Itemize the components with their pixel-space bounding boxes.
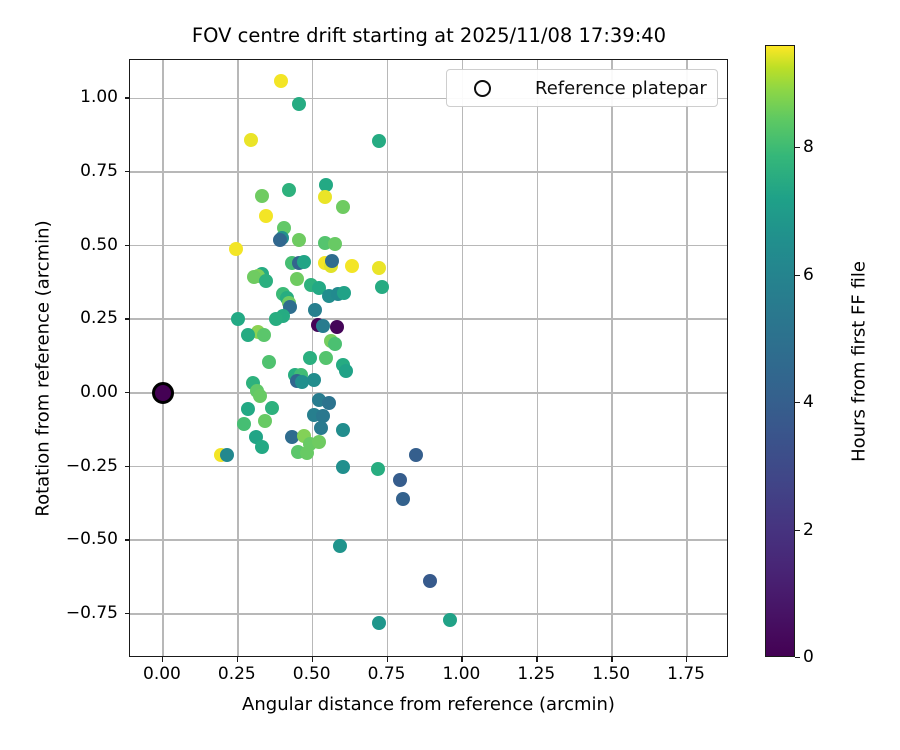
reference-platepar-marker-icon bbox=[474, 80, 491, 97]
y-tick-label: 0.00 bbox=[80, 382, 118, 402]
figure-canvas: FOV centre drift starting at 2025/11/08 … bbox=[0, 0, 900, 750]
x-tick-label: 0.50 bbox=[293, 664, 331, 684]
scatter-point bbox=[274, 74, 288, 88]
scatter-point bbox=[308, 303, 322, 317]
scatter-point bbox=[292, 233, 306, 247]
gridline-horizontal bbox=[130, 171, 727, 173]
gridline-horizontal bbox=[130, 613, 727, 615]
colorbar-tick-mark bbox=[795, 402, 800, 403]
scatter-point bbox=[312, 435, 326, 449]
x-tick-label: 0.00 bbox=[143, 664, 181, 684]
colorbar-label: Hours from first FF file bbox=[849, 56, 870, 668]
scatter-point bbox=[336, 460, 350, 474]
scatter-point bbox=[336, 200, 350, 214]
scatter-point bbox=[345, 259, 359, 273]
y-tick-mark bbox=[125, 539, 130, 540]
colorbar-tick-label: 2 bbox=[803, 520, 814, 540]
gridline-vertical bbox=[686, 60, 688, 656]
plot-area bbox=[130, 60, 727, 656]
gridline-vertical bbox=[537, 60, 539, 656]
scatter-point bbox=[330, 320, 344, 334]
x-tick-mark bbox=[162, 657, 163, 662]
y-tick-mark bbox=[125, 97, 130, 98]
scatter-point bbox=[255, 189, 269, 203]
colorbar-tick-label: 0 bbox=[803, 647, 814, 667]
colorbar-tick-label: 6 bbox=[803, 265, 814, 285]
scatter-point bbox=[244, 133, 258, 147]
scatter-point bbox=[316, 319, 330, 333]
scatter-point bbox=[292, 97, 306, 111]
scatter-point bbox=[372, 134, 386, 148]
legend: Reference platepar bbox=[446, 69, 718, 107]
scatter-point bbox=[423, 574, 437, 588]
scatter-point bbox=[396, 492, 410, 506]
colorbar-tick-mark bbox=[795, 275, 800, 276]
scatter-point bbox=[259, 209, 273, 223]
scatter-point bbox=[273, 233, 287, 247]
scatter-point bbox=[336, 423, 350, 437]
gridline-vertical bbox=[162, 60, 164, 656]
scatter-point bbox=[409, 448, 423, 462]
x-tick-mark bbox=[312, 657, 313, 662]
x-tick-label: 0.75 bbox=[368, 664, 406, 684]
x-tick-mark bbox=[611, 657, 612, 662]
gridline-vertical bbox=[237, 60, 239, 656]
y-tick-mark bbox=[125, 245, 130, 246]
gridline-vertical bbox=[462, 60, 464, 656]
scatter-point bbox=[307, 373, 321, 387]
scatter-point bbox=[262, 355, 276, 369]
scatter-point bbox=[337, 286, 351, 300]
scatter-point bbox=[371, 462, 385, 476]
x-tick-label: 0.25 bbox=[218, 664, 256, 684]
scatter-point bbox=[259, 274, 273, 288]
x-tick-mark bbox=[686, 657, 687, 662]
scatter-point bbox=[229, 242, 243, 256]
scatter-point bbox=[372, 616, 386, 630]
scatter-point bbox=[325, 254, 339, 268]
y-tick-label: 0.75 bbox=[80, 161, 118, 181]
colorbar bbox=[765, 45, 795, 657]
page-title: FOV centre drift starting at 2025/11/08 … bbox=[129, 24, 729, 47]
scatter-point bbox=[297, 255, 311, 269]
x-tick-mark bbox=[387, 657, 388, 662]
y-tick-label: −0.25 bbox=[66, 456, 118, 476]
colorbar-tick-mark bbox=[795, 147, 800, 148]
x-tick-mark bbox=[237, 657, 238, 662]
y-tick-mark bbox=[125, 613, 130, 614]
scatter-point bbox=[257, 328, 271, 342]
y-tick-mark bbox=[125, 171, 130, 172]
scatter-point bbox=[393, 473, 407, 487]
y-tick-label: −0.50 bbox=[66, 529, 118, 549]
legend-entry-label: Reference platepar bbox=[535, 78, 707, 99]
gridline-vertical bbox=[387, 60, 389, 656]
y-axis-label: Rotation from reference (arcmin) bbox=[33, 70, 54, 668]
reference-platepar-point bbox=[152, 382, 174, 404]
scatter-point bbox=[290, 272, 304, 286]
colorbar-tick-label: 4 bbox=[803, 392, 814, 412]
y-tick-label: 0.25 bbox=[80, 308, 118, 328]
gridline-horizontal bbox=[130, 392, 727, 394]
colorbar-tick-label: 8 bbox=[803, 137, 814, 157]
scatter-point bbox=[269, 312, 283, 326]
x-tick-label: 1.50 bbox=[592, 664, 630, 684]
gridline-horizontal bbox=[130, 466, 727, 468]
y-tick-label: 0.50 bbox=[80, 235, 118, 255]
scatter-point bbox=[258, 414, 272, 428]
y-tick-mark bbox=[125, 466, 130, 467]
scatter-point bbox=[328, 337, 342, 351]
gridline-horizontal bbox=[130, 245, 727, 247]
scatter-point bbox=[443, 613, 457, 627]
scatter-point bbox=[253, 389, 267, 403]
scatter-point bbox=[220, 448, 234, 462]
scatter-point bbox=[375, 280, 389, 294]
y-tick-label: −0.75 bbox=[66, 603, 118, 623]
scatter-point bbox=[319, 351, 333, 365]
scatter-point bbox=[241, 402, 255, 416]
scatter-point bbox=[255, 440, 269, 454]
y-tick-mark bbox=[125, 392, 130, 393]
x-tick-mark bbox=[461, 657, 462, 662]
scatter-point bbox=[300, 446, 314, 460]
scatter-point bbox=[372, 261, 386, 275]
scatter-point bbox=[333, 539, 347, 553]
scatter-point bbox=[339, 364, 353, 378]
gridline-horizontal bbox=[130, 318, 727, 320]
plot-axes bbox=[129, 59, 728, 657]
x-tick-label: 1.25 bbox=[517, 664, 555, 684]
scatter-point bbox=[265, 401, 279, 415]
scatter-point bbox=[328, 237, 342, 251]
y-tick-mark bbox=[125, 318, 130, 319]
scatter-point bbox=[241, 328, 255, 342]
gridline-vertical bbox=[611, 60, 613, 656]
scatter-point bbox=[303, 351, 317, 365]
x-tick-mark bbox=[536, 657, 537, 662]
gridline-horizontal bbox=[130, 539, 727, 541]
y-tick-label: 1.00 bbox=[80, 87, 118, 107]
colorbar-tick-mark bbox=[795, 530, 800, 531]
scatter-point bbox=[314, 421, 328, 435]
colorbar-tick-mark bbox=[795, 657, 800, 658]
x-axis-label: Angular distance from reference (arcmin) bbox=[129, 694, 728, 715]
scatter-point bbox=[231, 312, 245, 326]
x-tick-label: 1.00 bbox=[443, 664, 481, 684]
scatter-point bbox=[282, 183, 296, 197]
scatter-point bbox=[237, 417, 251, 431]
x-tick-label: 1.75 bbox=[667, 664, 705, 684]
scatter-point bbox=[318, 190, 332, 204]
